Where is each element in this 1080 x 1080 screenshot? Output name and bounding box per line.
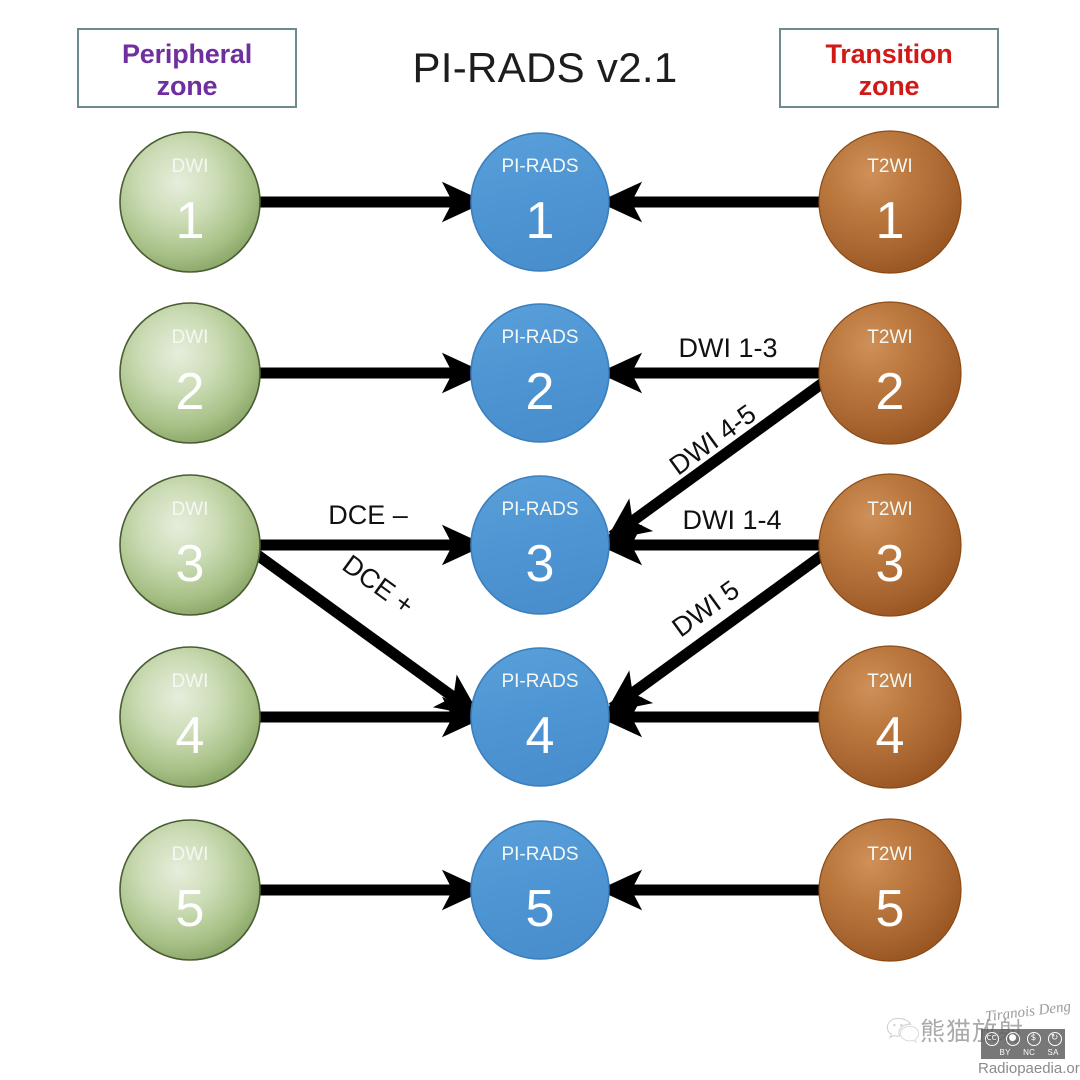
diagram-canvas: Peripheral zone Transition zone PI-RADS … bbox=[0, 0, 1080, 1080]
node-pirads-5-num: 5 bbox=[526, 880, 555, 938]
node-pirads-1[interactable]: PI-RADS 1 bbox=[471, 133, 609, 271]
node-t2wi-2[interactable]: T2WI 2 bbox=[819, 302, 961, 444]
node-pirads-2-sub: PI-RADS bbox=[501, 327, 578, 348]
cc-label-sa: SA bbox=[1048, 1048, 1059, 1057]
node-t2wi-4-sub: T2WI bbox=[867, 671, 912, 692]
watermark-source: Radiopaedia.org bbox=[978, 1060, 1080, 1077]
node-dwi-2[interactable]: DWI 2 bbox=[120, 303, 260, 443]
cc-nc-icon: $ bbox=[1027, 1032, 1041, 1046]
edge-label-dwi-1-3: DWI 1-3 bbox=[678, 333, 777, 363]
node-dwi-1[interactable]: DWI 1 bbox=[120, 132, 260, 272]
node-pirads-3-num: 3 bbox=[526, 535, 555, 593]
edge-label-dce-plus: DCE + bbox=[337, 549, 420, 620]
node-t2wi-3-num: 3 bbox=[876, 535, 905, 593]
node-t2wi-5[interactable]: T2WI 5 bbox=[819, 819, 961, 961]
node-dwi-3[interactable]: DWI 3 bbox=[120, 475, 260, 615]
node-pirads-4-num: 4 bbox=[526, 707, 555, 765]
edge-label-dwi-1-4: DWI 1-4 bbox=[682, 505, 781, 535]
cc-icon-row: cc ● $ ↻ bbox=[981, 1030, 1065, 1047]
node-dwi-5[interactable]: DWI 5 bbox=[120, 820, 260, 960]
node-t2wi-1[interactable]: T2WI 1 bbox=[819, 131, 961, 273]
node-t2wi-1-sub: T2WI bbox=[867, 156, 912, 177]
node-pirads-1-num: 1 bbox=[526, 192, 555, 250]
node-t2wi-3-sub: T2WI bbox=[867, 499, 912, 520]
wechat-icon bbox=[886, 1016, 920, 1044]
node-t2wi-1-num: 1 bbox=[876, 192, 905, 250]
cc-label-nc: NC bbox=[1023, 1048, 1035, 1057]
diagram-svg: DWI 1 DWI 2 DWI 3 DWI 4 DWI 5 bbox=[0, 0, 1080, 1080]
node-t2wi-5-num: 5 bbox=[876, 880, 905, 938]
node-pirads-3-sub: PI-RADS bbox=[501, 499, 578, 520]
node-pirads-5[interactable]: PI-RADS 5 bbox=[471, 821, 609, 959]
node-dwi-2-num: 2 bbox=[176, 363, 205, 421]
cc-by-icon: ● bbox=[1006, 1032, 1020, 1046]
edge-label-dwi-5: DWI 5 bbox=[667, 575, 745, 643]
node-dwi-4-sub: DWI bbox=[172, 671, 209, 692]
node-dwi-5-sub: DWI bbox=[172, 844, 209, 865]
creative-commons-badge: cc ● $ ↻ BY NC SA bbox=[981, 1029, 1065, 1059]
node-dwi-3-num: 3 bbox=[176, 535, 205, 593]
node-pirads-1-sub: PI-RADS bbox=[501, 156, 578, 177]
node-dwi-1-sub: DWI bbox=[172, 156, 209, 177]
cc-cc-icon: cc bbox=[985, 1032, 999, 1046]
node-dwi-3-sub: DWI bbox=[172, 499, 209, 520]
node-dwi-4[interactable]: DWI 4 bbox=[120, 647, 260, 787]
node-t2wi-2-sub: T2WI bbox=[867, 327, 912, 348]
edge-label-dce-minus: DCE – bbox=[328, 500, 408, 530]
node-pirads-4-sub: PI-RADS bbox=[501, 671, 578, 692]
arrow-t2wi3-pirads4 bbox=[612, 554, 824, 708]
node-dwi-1-num: 1 bbox=[176, 192, 205, 250]
node-t2wi-5-sub: T2WI bbox=[867, 844, 912, 865]
node-pirads-5-sub: PI-RADS bbox=[501, 844, 578, 865]
node-t2wi-3[interactable]: T2WI 3 bbox=[819, 474, 961, 616]
node-t2wi-4-num: 4 bbox=[876, 707, 905, 765]
node-t2wi-4[interactable]: T2WI 4 bbox=[819, 646, 961, 788]
node-dwi-4-num: 4 bbox=[176, 707, 205, 765]
node-pirads-2[interactable]: PI-RADS 2 bbox=[471, 304, 609, 442]
cc-label-by: BY bbox=[999, 1048, 1010, 1057]
watermark: 熊猫放射 Tiranois Deng cc ● $ ↻ BY NC SA Rad… bbox=[880, 1002, 1080, 1080]
node-pirads-4[interactable]: PI-RADS 4 bbox=[471, 648, 609, 786]
node-t2wi-2-num: 2 bbox=[876, 363, 905, 421]
node-dwi-5-num: 5 bbox=[176, 880, 205, 938]
node-pirads-3[interactable]: PI-RADS 3 bbox=[471, 476, 609, 614]
node-dwi-2-sub: DWI bbox=[172, 327, 209, 348]
cc-sa-icon: ↻ bbox=[1048, 1032, 1062, 1046]
node-pirads-2-num: 2 bbox=[526, 363, 555, 421]
cc-label-row: BY NC SA bbox=[981, 1046, 1065, 1059]
watermark-signature: Tiranois Deng bbox=[984, 999, 1072, 1026]
